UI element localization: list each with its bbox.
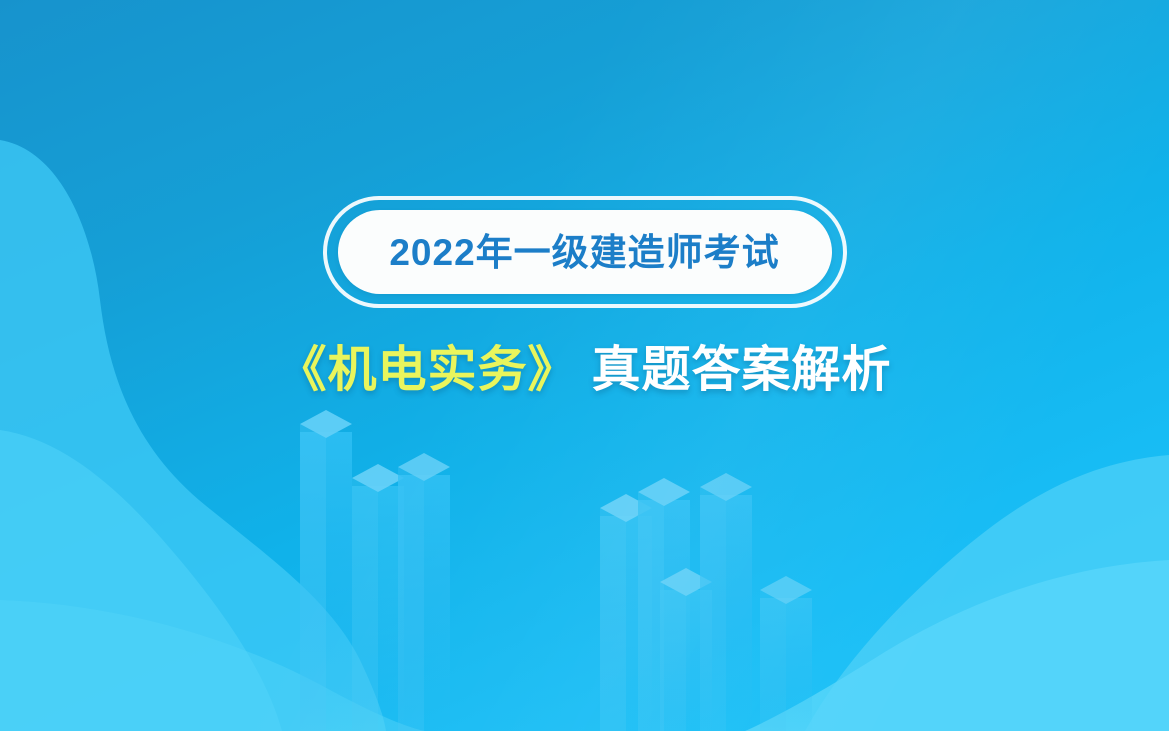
slide-content: 2022年一级建造师考试 《机电实务》真题答案解析: [0, 0, 1169, 731]
subtitle: 《机电实务》真题答案解析: [277, 341, 891, 400]
slide-canvas: 2022年一级建造师考试 《机电实务》真题答案解析: [0, 0, 1169, 731]
subtitle-description: 真题答案解析: [592, 343, 892, 397]
title-pill-ring: 2022年一级建造师考试: [323, 196, 847, 308]
exam-title: 2022年一级建造师考试: [389, 234, 779, 271]
subtitle-subject: 《机电实务》: [277, 343, 577, 397]
title-pill: 2022年一级建造师考试: [338, 210, 832, 294]
